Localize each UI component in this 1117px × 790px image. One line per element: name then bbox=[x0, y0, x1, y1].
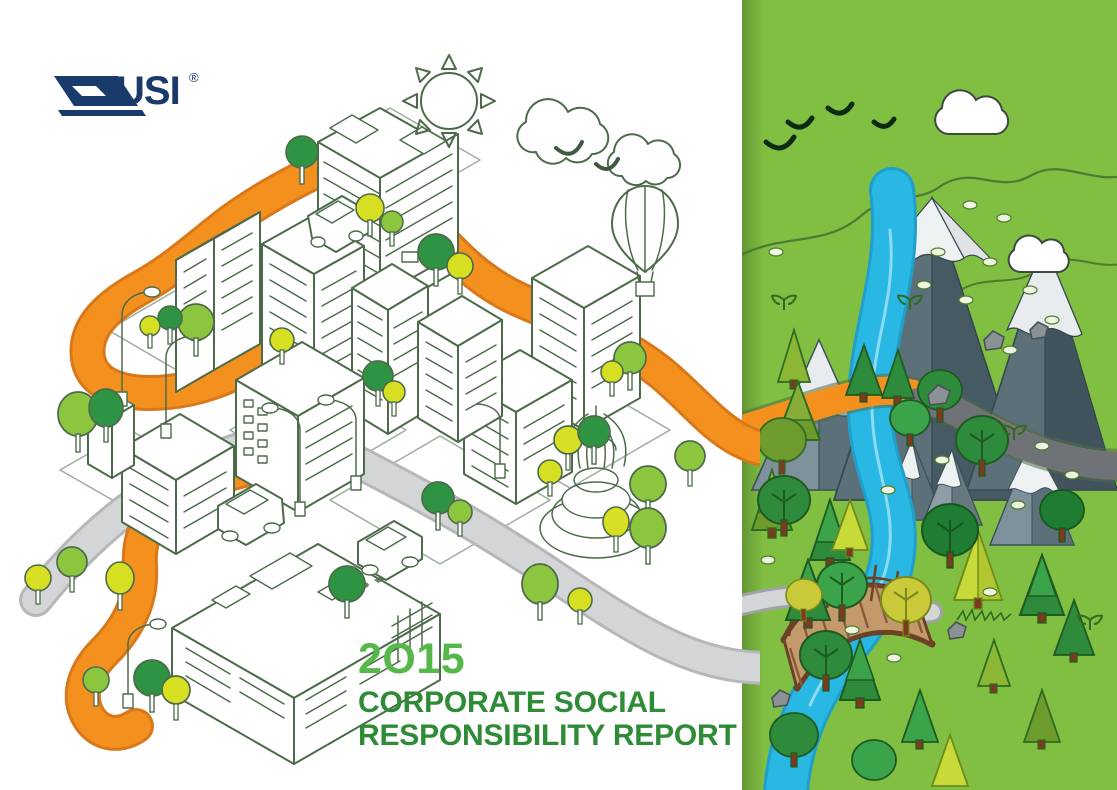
report-cover: .ln{fill:none;stroke:#4d6b4a;stroke-widt… bbox=[0, 0, 1117, 790]
report-title-line-1: CORPORATE SOCIAL bbox=[358, 686, 758, 719]
report-title-line-2: RESPONSIBILITY REPORT bbox=[358, 719, 758, 752]
registered-mark: ® bbox=[189, 70, 199, 85]
usi-logo: USI ® bbox=[52, 62, 212, 120]
green-nature-panel bbox=[742, 0, 1117, 790]
sun-icon bbox=[403, 55, 495, 147]
title-block: 2O15 CORPORATE SOCIAL RESPONSIBILITY REP… bbox=[358, 636, 758, 752]
report-year: 2O15 bbox=[358, 636, 758, 682]
nature-scene bbox=[742, 0, 1117, 790]
tower-grid bbox=[418, 296, 502, 442]
hill-outline-2 bbox=[942, 169, 1117, 185]
ridge-scribble-2 bbox=[957, 610, 1011, 620]
usi-wordmark: USI bbox=[116, 69, 180, 113]
bird-flock bbox=[766, 104, 894, 148]
car-centre bbox=[358, 521, 422, 580]
